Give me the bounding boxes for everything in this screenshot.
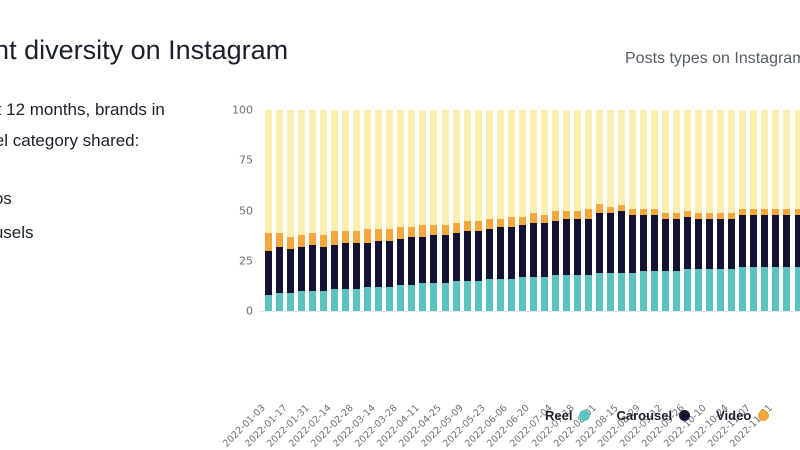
bar-stack	[287, 110, 294, 311]
bar-segment-video	[530, 213, 537, 223]
bar-segment-photo	[276, 110, 283, 233]
bar-segment-photo	[419, 110, 426, 225]
bar-stack	[430, 110, 437, 311]
legend-swatch-icon	[579, 410, 590, 421]
bar-segment-reel	[684, 269, 691, 311]
bar-column[interactable]	[517, 110, 528, 311]
bar-segment-photo	[408, 110, 415, 227]
bar-segment-reel	[541, 277, 548, 311]
bar-segment-carousel	[541, 223, 548, 277]
bar-column[interactable]	[428, 110, 439, 311]
bar-stack	[772, 110, 779, 311]
bar-column[interactable]	[384, 110, 395, 311]
bar-stack	[530, 110, 537, 311]
bar-segment-carousel	[519, 225, 526, 277]
bar-stack	[607, 110, 614, 311]
bar-segment-video	[508, 217, 515, 227]
bar-segment-photo	[309, 110, 316, 233]
bar-stack	[596, 110, 603, 311]
bar-stack	[497, 110, 504, 311]
bar-segment-reel	[563, 275, 570, 311]
bar-column[interactable]	[715, 110, 726, 311]
bar-stack	[475, 110, 482, 311]
bar-segment-reel	[265, 295, 272, 311]
bar-segment-video	[430, 225, 437, 235]
bar-segment-reel	[276, 293, 283, 311]
bar-segment-reel	[618, 273, 625, 311]
bar-segment-carousel	[673, 219, 680, 271]
bar-segment-reel	[375, 287, 382, 311]
bar-segment-photo	[442, 110, 449, 225]
bar-segment-reel	[419, 283, 426, 311]
bar-segment-carousel	[717, 219, 724, 269]
bar-segment-reel	[320, 291, 327, 311]
bar-segment-reel	[750, 267, 757, 311]
bar-segment-video	[453, 223, 460, 233]
bar-segment-video	[497, 219, 504, 227]
bar-stack	[298, 110, 305, 311]
bar-segment-reel	[486, 279, 493, 311]
bar-stack	[309, 110, 316, 311]
bar-segment-reel	[795, 267, 800, 311]
bar-column[interactable]	[473, 110, 484, 311]
bar-segment-photo	[673, 110, 680, 213]
bar-stack	[640, 110, 647, 311]
stat-bullet-list: 54% photos 30% carousels 12% reels 4% vi…	[0, 182, 222, 318]
bar-column[interactable]	[649, 110, 660, 311]
bar-stack	[442, 110, 449, 311]
bar-stack	[717, 110, 724, 311]
list-item: 30% carousels	[0, 216, 222, 250]
bar-segment-video	[563, 211, 570, 219]
bar-segment-carousel	[375, 241, 382, 287]
bar-column[interactable]	[440, 110, 451, 311]
bar-stack	[684, 110, 691, 311]
bar-segment-reel	[408, 285, 415, 311]
bar-segment-photo	[607, 110, 614, 206]
bar-segment-reel	[585, 275, 592, 311]
bar-segment-photo	[629, 110, 636, 208]
bar-segment-photo	[695, 110, 702, 213]
bar-segment-photo	[287, 110, 294, 237]
bar-stack	[783, 110, 790, 311]
bar-segment-video	[287, 237, 294, 249]
bar-segment-photo	[706, 110, 713, 213]
bar-segment-photo	[585, 110, 592, 208]
bar-segment-photo	[265, 110, 272, 233]
bar-column[interactable]	[506, 110, 517, 311]
axis-baseline	[259, 311, 800, 312]
bar-stack	[662, 110, 669, 311]
bar-segment-carousel	[795, 215, 800, 267]
bar-segment-reel	[519, 277, 526, 311]
bar-segment-photo	[761, 110, 768, 208]
bar-stack	[265, 110, 272, 311]
bar-column[interactable]	[793, 110, 800, 311]
bar-segment-carousel	[728, 219, 735, 269]
bar-segment-photo	[298, 110, 305, 235]
bar-stack	[419, 110, 426, 311]
plot-area: 0255075100 2022-01-032022-01-172022-01-3…	[215, 110, 800, 380]
bar-column[interactable]	[572, 110, 583, 311]
bar-stack	[508, 110, 515, 311]
bar-segment-reel	[530, 277, 537, 311]
page-title: Content diversity on Instagram	[0, 34, 222, 67]
bar-segment-photo	[618, 110, 625, 204]
bar-segment-photo	[728, 110, 735, 213]
bar-column[interactable]	[351, 110, 362, 311]
bar-segment-reel	[640, 271, 647, 311]
bar-segment-reel	[353, 289, 360, 311]
bar-segment-photo	[795, 110, 800, 208]
bar-segment-carousel	[497, 227, 504, 279]
bar-segment-video	[585, 209, 592, 219]
bar-segment-photo	[397, 110, 404, 227]
bar-column[interactable]	[748, 110, 759, 311]
bar-segment-carousel	[320, 247, 327, 291]
bar-stack	[276, 110, 283, 311]
bar-segment-photo	[574, 110, 581, 211]
legend-label: Video	[716, 408, 751, 423]
bar-segment-carousel	[585, 219, 592, 275]
bar-column[interactable]	[362, 110, 373, 311]
bar-segment-carousel	[287, 249, 294, 293]
bar-column[interactable]	[759, 110, 770, 311]
slide-canvas: Content diversity on Instagram In the pa…	[0, 0, 800, 450]
bar-segment-video	[464, 221, 471, 231]
bar-stack	[563, 110, 570, 311]
bar-segment-video	[552, 211, 559, 221]
legend-label: Reel	[545, 408, 572, 423]
legend-item-video[interactable]: Video	[716, 408, 769, 423]
bar-segment-reel	[574, 275, 581, 311]
legend-item-reel[interactable]: Reel	[545, 408, 590, 423]
bar-stack	[408, 110, 415, 311]
bar-segment-reel	[298, 291, 305, 311]
bar-column[interactable]	[484, 110, 495, 311]
bar-column[interactable]	[263, 110, 274, 311]
bar-stack	[464, 110, 471, 311]
list-item: 12% reels	[0, 250, 222, 284]
bar-segment-photo	[783, 110, 790, 208]
y-axis-tick-label: 0	[246, 305, 253, 318]
bar-stack	[585, 110, 592, 311]
bar-segment-photo	[353, 110, 360, 231]
bar-column[interactable]	[417, 110, 428, 311]
bar-column[interactable]	[340, 110, 351, 311]
bar-stack	[706, 110, 713, 311]
bar-column[interactable]	[329, 110, 340, 311]
bar-segment-photo	[453, 110, 460, 223]
bar-segment-reel	[287, 293, 294, 311]
bar-column[interactable]	[682, 110, 693, 311]
bar-segment-photo	[519, 110, 526, 217]
bar-column[interactable]	[726, 110, 737, 311]
bar-segment-carousel	[442, 235, 449, 283]
bar-stack	[574, 110, 581, 311]
bar-segment-carousel	[386, 241, 393, 287]
bar-column[interactable]	[451, 110, 462, 311]
bar-segment-photo	[552, 110, 559, 211]
bar-stack	[651, 110, 658, 311]
bar-segment-reel	[651, 271, 658, 311]
bar-segment-reel	[386, 287, 393, 311]
bar-segment-photo	[530, 110, 537, 213]
bar-column[interactable]	[307, 110, 318, 311]
bar-segment-reel	[772, 267, 779, 311]
bar-column[interactable]	[660, 110, 671, 311]
bar-column[interactable]	[528, 110, 539, 311]
bar-column[interactable]	[296, 110, 307, 311]
bar-segment-photo	[772, 110, 779, 208]
bar-segment-reel	[662, 271, 669, 311]
bar-segment-carousel	[552, 221, 559, 275]
bar-stack	[453, 110, 460, 311]
bar-segment-carousel	[508, 227, 515, 279]
bar-segment-photo	[508, 110, 515, 217]
bar-column[interactable]	[318, 110, 329, 311]
bar-column[interactable]	[495, 110, 506, 311]
bar-column[interactable]	[594, 110, 605, 311]
bar-stack	[750, 110, 757, 311]
bar-segment-carousel	[419, 237, 426, 283]
bar-segment-photo	[739, 110, 746, 208]
bar-stack	[320, 110, 327, 311]
bar-segment-carousel	[783, 215, 790, 267]
bar-segment-carousel	[563, 219, 570, 275]
bar-segment-reel	[552, 275, 559, 311]
bar-column[interactable]	[627, 110, 638, 311]
lede-line-1: In the past 12 months, brands in	[0, 94, 222, 125]
bar-segment-photo	[342, 110, 349, 231]
bar-segment-photo	[364, 110, 371, 229]
bar-segment-reel	[695, 269, 702, 311]
bar-segment-photo	[750, 110, 757, 208]
bar-column[interactable]	[274, 110, 285, 311]
bar-segment-carousel	[265, 251, 272, 295]
bar-segment-reel	[442, 283, 449, 311]
bar-segment-reel	[331, 289, 338, 311]
bar-segment-video	[419, 225, 426, 237]
legend-swatch-icon	[758, 410, 769, 421]
bar-segment-video	[408, 227, 415, 237]
bar-segment-video	[375, 229, 382, 241]
bar-segment-carousel	[574, 219, 581, 275]
bar-segment-reel	[497, 279, 504, 311]
bar-segment-carousel	[640, 215, 647, 271]
bar-segment-photo	[596, 110, 603, 204]
bar-segment-reel	[607, 273, 614, 311]
bar-segment-carousel	[750, 215, 757, 267]
bar-segment-video	[265, 233, 272, 251]
y-axis-tick-label: 25	[239, 254, 253, 267]
bar-stack	[795, 110, 800, 311]
bar-column[interactable]	[616, 110, 627, 311]
bar-column[interactable]	[638, 110, 649, 311]
bar-column[interactable]	[704, 110, 715, 311]
bar-stack	[695, 110, 702, 311]
bar-segment-photo	[662, 110, 669, 213]
bar-segment-photo	[475, 110, 482, 221]
bar-segment-carousel	[607, 213, 614, 273]
bar-segment-carousel	[364, 243, 371, 287]
bar-segment-carousel	[596, 213, 603, 273]
bar-segment-carousel	[408, 237, 415, 285]
narrative-column: Content diversity on Instagram In the pa…	[0, 34, 222, 318]
bar-stack	[364, 110, 371, 311]
bar-segment-reel	[508, 279, 515, 311]
bar-column[interactable]	[770, 110, 781, 311]
bar-segment-reel	[397, 285, 404, 311]
y-axis-tick-label: 100	[232, 104, 253, 117]
bar-segment-carousel	[397, 239, 404, 285]
bar-segment-reel	[673, 271, 680, 311]
bar-segment-video	[364, 229, 371, 243]
lede-text: In the past 12 months, brands in the App…	[0, 94, 222, 156]
bar-segment-photo	[717, 110, 724, 213]
bar-stack	[486, 110, 493, 311]
bar-column[interactable]	[605, 110, 616, 311]
bar-segment-photo	[320, 110, 327, 235]
bar-stack	[552, 110, 559, 311]
bar-segment-video	[320, 235, 327, 247]
bar-segment-reel	[464, 281, 471, 311]
bar-segment-carousel	[464, 231, 471, 281]
bar-segment-carousel	[629, 215, 636, 273]
bar-segment-photo	[541, 110, 548, 215]
chart-title: Posts types on Instagram	[625, 50, 800, 68]
stacked-bar-series	[263, 110, 800, 311]
bar-segment-reel	[629, 273, 636, 311]
bar-segment-video	[596, 204, 603, 212]
bar-segment-photo	[375, 110, 382, 229]
bar-segment-video	[574, 211, 581, 219]
bar-segment-carousel	[530, 223, 537, 277]
bar-segment-photo	[386, 110, 393, 229]
bar-stack	[728, 110, 735, 311]
bar-segment-video	[331, 231, 338, 245]
bar-stack	[629, 110, 636, 311]
bar-segment-photo	[486, 110, 493, 219]
bar-segment-photo	[684, 110, 691, 211]
bar-stack	[673, 110, 680, 311]
bar-segment-reel	[430, 283, 437, 311]
bar-segment-video	[541, 215, 548, 223]
bar-segment-reel	[364, 287, 371, 311]
chart-panel: Posts types on Instagram 0255075100 2022…	[215, 36, 800, 446]
bar-column[interactable]	[583, 110, 594, 311]
bar-stack	[519, 110, 526, 311]
bar-segment-carousel	[430, 235, 437, 283]
bar-segment-photo	[640, 110, 647, 208]
bar-stack	[386, 110, 393, 311]
legend-label: Carousel	[616, 408, 672, 423]
bar-segment-carousel	[298, 247, 305, 291]
bar-segment-carousel	[706, 219, 713, 269]
bar-column[interactable]	[539, 110, 550, 311]
bar-column[interactable]	[285, 110, 296, 311]
bar-stack	[342, 110, 349, 311]
bar-stack	[331, 110, 338, 311]
bar-segment-reel	[761, 267, 768, 311]
bar-stack	[739, 110, 746, 311]
bar-column[interactable]	[462, 110, 473, 311]
bar-column[interactable]	[781, 110, 792, 311]
bar-segment-video	[386, 229, 393, 241]
bar-column[interactable]	[737, 110, 748, 311]
bar-segment-photo	[464, 110, 471, 221]
bar-column[interactable]	[373, 110, 384, 311]
bar-segment-carousel	[276, 247, 283, 293]
y-axis-tick-label: 75	[239, 154, 253, 167]
bar-segment-reel	[309, 291, 316, 311]
bar-segment-photo	[331, 110, 338, 231]
bar-segment-photo	[497, 110, 504, 219]
bar-segment-video	[342, 231, 349, 243]
list-item: 54% photos	[0, 182, 222, 216]
y-axis: 0255075100	[215, 110, 259, 312]
bar-segment-video	[353, 231, 360, 243]
bar-stack	[397, 110, 404, 311]
bar-segment-reel	[596, 273, 603, 311]
bar-segment-carousel	[651, 215, 658, 271]
bar-segment-reel	[717, 269, 724, 311]
bar-column[interactable]	[550, 110, 561, 311]
bar-segment-carousel	[353, 243, 360, 289]
legend-swatch-icon	[679, 410, 690, 421]
bar-segment-carousel	[618, 211, 625, 273]
bar-segment-carousel	[772, 215, 779, 267]
bar-segment-reel	[453, 281, 460, 311]
bar-segment-carousel	[342, 243, 349, 289]
bar-column[interactable]	[395, 110, 406, 311]
bar-segment-reel	[706, 269, 713, 311]
bar-segment-carousel	[761, 215, 768, 267]
bar-segment-carousel	[662, 219, 669, 271]
lede-line-2: the Apparel category shared:	[0, 125, 222, 156]
bar-segment-carousel	[453, 233, 460, 281]
bar-segment-reel	[475, 281, 482, 311]
bar-column[interactable]	[561, 110, 572, 311]
bar-segment-photo	[651, 110, 658, 208]
bar-segment-carousel	[684, 217, 691, 269]
bar-stack	[541, 110, 548, 311]
bar-segment-video	[309, 233, 316, 245]
bar-segment-photo	[563, 110, 570, 211]
bar-stack	[761, 110, 768, 311]
bar-segment-carousel	[331, 245, 338, 289]
bar-column[interactable]	[671, 110, 682, 311]
bar-segment-video	[475, 221, 482, 231]
bar-column[interactable]	[693, 110, 704, 311]
bar-segment-video	[519, 217, 526, 225]
bar-segment-reel	[728, 269, 735, 311]
bar-segment-photo	[430, 110, 437, 225]
bar-segment-reel	[739, 267, 746, 311]
bar-segment-video	[276, 233, 283, 247]
bar-segment-carousel	[739, 215, 746, 267]
bar-column[interactable]	[406, 110, 417, 311]
bar-segment-carousel	[309, 245, 316, 291]
y-axis-tick-label: 50	[239, 204, 253, 217]
bar-segment-video	[298, 235, 305, 247]
bar-segment-video	[442, 225, 449, 235]
list-item: 4% videos	[0, 284, 222, 318]
bar-segment-carousel	[486, 229, 493, 279]
legend-item-carousel[interactable]: Carousel	[616, 408, 690, 423]
bar-stack	[375, 110, 382, 311]
bar-segment-carousel	[695, 219, 702, 269]
